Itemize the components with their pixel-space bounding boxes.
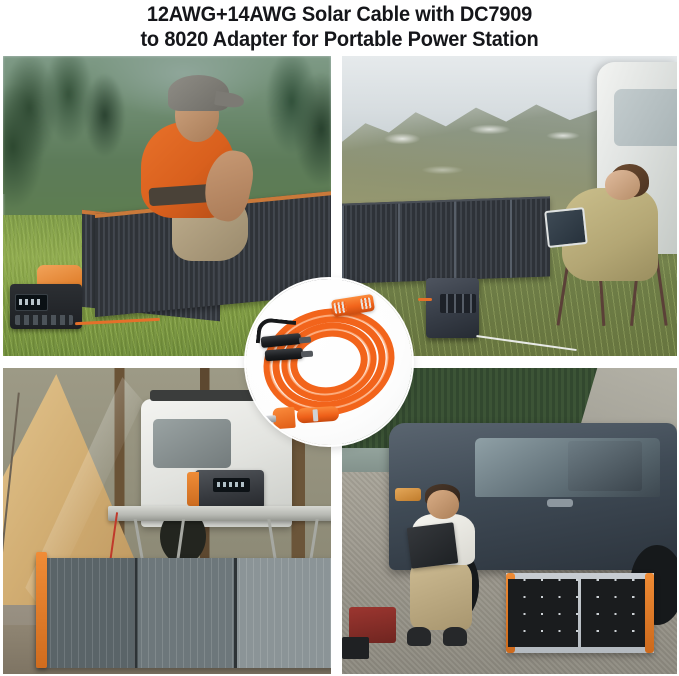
solar-panel-orange-rail [36,552,47,668]
tent-guy-line [3,393,20,618]
three-fold-solar-panel [36,558,331,668]
snow-dusted-mountains [342,92,677,248]
orange-tshirt [141,122,235,217]
two-fold-solar-panel [506,573,653,653]
suv-front-wheel [422,545,479,625]
cable-highlight [281,321,377,403]
canvas-tent [3,374,154,625]
mc4-connector-female [265,347,304,361]
tool-belt [148,184,215,206]
white-charging-cable [476,335,576,351]
sky-background [342,56,677,146]
suv-side-window [568,441,643,491]
mc4-connector-pair [259,329,315,375]
table-leg [304,519,318,591]
blanket [562,188,658,281]
cable-coil-loop [253,296,404,427]
connector-grip-ribs [360,298,372,310]
khaki-pants [172,194,248,261]
sky-background [3,56,331,194]
head [427,490,459,519]
cable-coil-loop [284,323,374,402]
product-inset-circle [246,279,412,445]
tent-seam-highlight [23,377,154,622]
dc7909-connector [331,294,375,317]
power-station-ports [15,315,73,325]
portable-power-station-orange [10,284,82,329]
plug-metal-ring [312,409,318,421]
power-station-display [15,294,47,311]
hair [610,164,649,197]
gravel-road [563,368,677,484]
door-handle [547,499,573,506]
head [605,170,639,200]
baseball-cap [168,75,228,111]
cable-coil-loop [264,305,395,419]
portable-power-station [195,470,264,509]
head [175,91,220,142]
suv-wheel [160,509,206,564]
cable-coil-loop [274,314,384,410]
solar-panel-wing-left [82,210,220,321]
table-leg [268,519,282,591]
van-window [614,89,677,147]
solar-panel-orange-rail [645,573,654,653]
product-image-page: 12AWG+14AWG Solar Cable with DC7909 to 8… [0,0,679,676]
white-van [597,62,677,254]
red-connection-wire [106,512,118,585]
title-line-1: 12AWG+14AWG Solar Cable with DC7909 [24,0,655,27]
title-line-2: to 8020 Adapter for Portable Power Stati… [24,27,655,52]
black-wire-lead [256,317,297,347]
four-fold-solar-array [342,196,550,283]
headlight [395,488,421,501]
mc4-metal-tip [301,350,313,357]
red-generator-unit [349,607,396,644]
mc4-connector-male [261,333,302,348]
dirt-ground [3,625,331,674]
orange-solar-cable [418,298,432,301]
khaki-pants [410,560,471,630]
power-station-body [10,284,82,329]
8020-right-angle-plug [272,403,339,429]
suv-window [153,419,231,468]
table-leg [172,519,185,591]
chair-leg [651,230,667,325]
shoe [407,627,431,646]
solar-panel-wing [581,579,652,647]
chair-leg [557,230,575,325]
person-kneeling [128,71,259,269]
chair-leg [595,230,605,326]
laptop [406,523,457,570]
person-with-laptop [406,490,486,649]
suv-rear-wheel [630,545,677,625]
suv-windshield [475,438,659,497]
orange-solar-cable [75,318,160,325]
white-tshirt [412,514,475,565]
roof-rack [150,390,259,402]
portable-power-station-grey [426,278,480,338]
connector-grip-ribs [334,301,348,314]
arm [199,146,257,225]
power-station-top-shell [37,265,82,306]
power-station-orange-handle [187,472,199,506]
table-top [108,506,331,521]
dark-grey-suv [389,423,677,570]
black-equipment-case [342,637,369,658]
tablet-device [544,207,588,248]
lake-water [342,448,550,482]
power-station-front-panel [440,294,476,313]
table-leg [134,519,150,591]
camp-table [108,506,331,592]
mc4-metal-tip [299,336,312,343]
shoe [443,627,467,646]
pine-forest [3,56,331,230]
plug-orange-sleeve [296,405,339,423]
solar-panel-orange-rail [506,573,515,653]
chair-leg [630,230,643,326]
cable-highlight [261,304,398,421]
camp-chair-with-person [553,176,667,326]
solar-panel-wing [508,579,579,647]
hair [425,484,460,506]
page-title: 12AWG+14AWG Solar Cable with DC7909 to 8… [0,0,679,54]
power-station-display [213,478,250,491]
plug-elbow [272,407,295,429]
gravel-ground [342,472,677,674]
